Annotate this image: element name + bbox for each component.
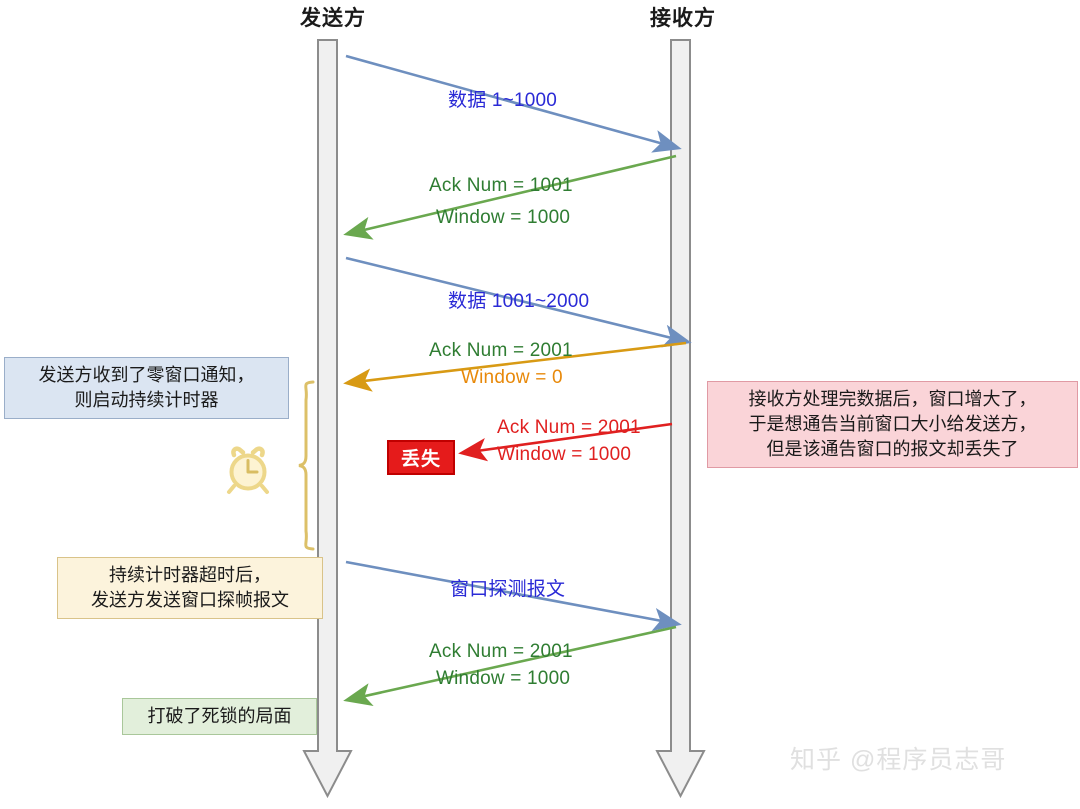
note-persist-timer-expired-line1: 持续计时器超时后， [67, 563, 313, 588]
watermark: 知乎 @程序员志哥 [790, 740, 1006, 776]
note-persist-timer-expired: 持续计时器超时后， 发送方发送窗口探帧报文 [57, 557, 323, 619]
message-label-data-1001-2000: 数据 1001~2000 [448, 289, 589, 315]
message-label-data-1-1000: 数据 1~1000 [448, 88, 557, 114]
message-label-ack-1001-line2: Window = 1000 [436, 205, 570, 231]
alarm-clock-icon [222, 446, 274, 505]
message-label-ack-final-line2: Window = 1000 [436, 666, 570, 692]
lost-badge: 丢失 [387, 440, 455, 475]
note-receiver-window-grew: 接收方处理完数据后，窗口增大了， 于是想通告当前窗口大小给发送方， 但是该通告窗… [707, 381, 1078, 468]
message-label-zero-window-line1: Ack Num = 2001 [429, 338, 573, 364]
lifeline-receiver [657, 40, 704, 796]
note-zero-window-received-line2: 则启动持续计时器 [14, 388, 279, 413]
alarm-clock-glyph [222, 446, 274, 498]
note-persist-timer-expired-line2: 发送方发送窗口探帧报文 [67, 588, 313, 613]
note-receiver-window-grew-line1: 接收方处理完数据后，窗口增大了， [717, 387, 1068, 412]
persist-timer-brace [299, 382, 313, 549]
lifeline-sender [304, 40, 351, 796]
message-label-ack-1001-line1: Ack Num = 1001 [429, 173, 573, 199]
diagram-canvas: 发送方 接收方 [0, 0, 1080, 809]
message-label-ack-lost-line2: Window = 1000 [497, 442, 631, 468]
message-label-ack-lost-line1: Ack Num = 2001 [497, 415, 641, 441]
message-label-window-probe: 窗口探测报文 [450, 577, 565, 603]
note-receiver-window-grew-line2: 于是想通告当前窗口大小给发送方， [717, 412, 1068, 437]
note-receiver-window-grew-line3: 但是该通告窗口的报文却丢失了 [717, 437, 1068, 462]
message-label-zero-window-line2: Window = 0 [461, 365, 563, 391]
message-label-ack-final-line1: Ack Num = 2001 [429, 639, 573, 665]
note-zero-window-received-line1: 发送方收到了零窗口通知， [14, 363, 279, 388]
note-deadlock-broken-line1: 打破了死锁的局面 [132, 704, 307, 729]
note-zero-window-received: 发送方收到了零窗口通知， 则启动持续计时器 [4, 357, 289, 419]
note-deadlock-broken: 打破了死锁的局面 [122, 698, 317, 735]
